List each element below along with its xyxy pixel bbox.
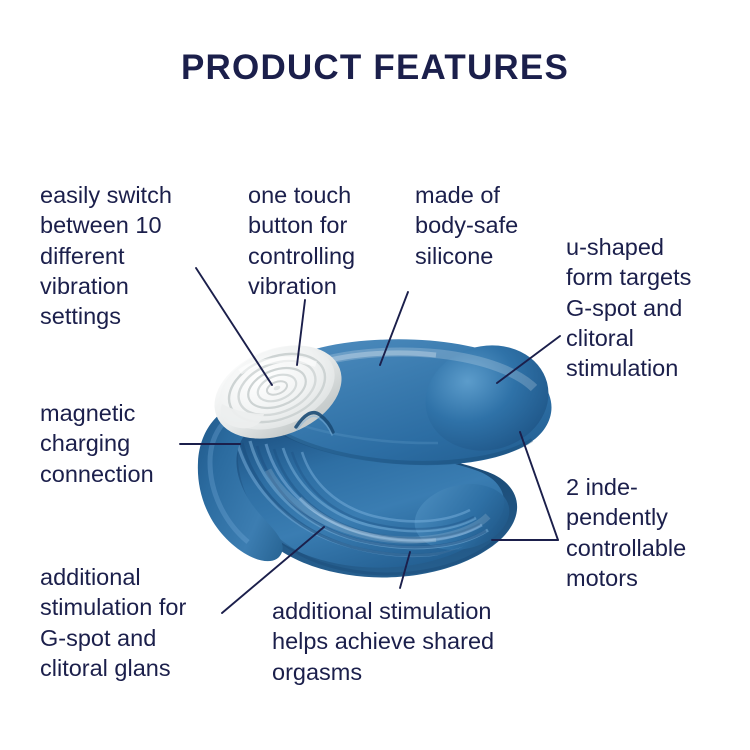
infographic-canvas: PRODUCT FEATURES	[0, 0, 750, 750]
callout-easy-switch: easily switch between 10 different vibra…	[40, 180, 245, 332]
callout-u-shaped-form: u-shaped form targets G-spot and clitora…	[566, 232, 746, 384]
callout-body-safe-silicone: made of body-safe silicone	[415, 180, 575, 271]
callout-additional-stimulation-gspot: additional stimulation for G-spot and cl…	[40, 562, 255, 683]
callout-one-touch-button: one touch button for controlling vibrati…	[248, 180, 408, 301]
callout-magnetic-charging: magnetic charging connection	[40, 398, 230, 489]
callout-additional-stimulation-shared: additional stimulation helps achieve sha…	[272, 596, 547, 687]
callout-two-motors: 2 inde- pendently controllable motors	[566, 472, 746, 593]
